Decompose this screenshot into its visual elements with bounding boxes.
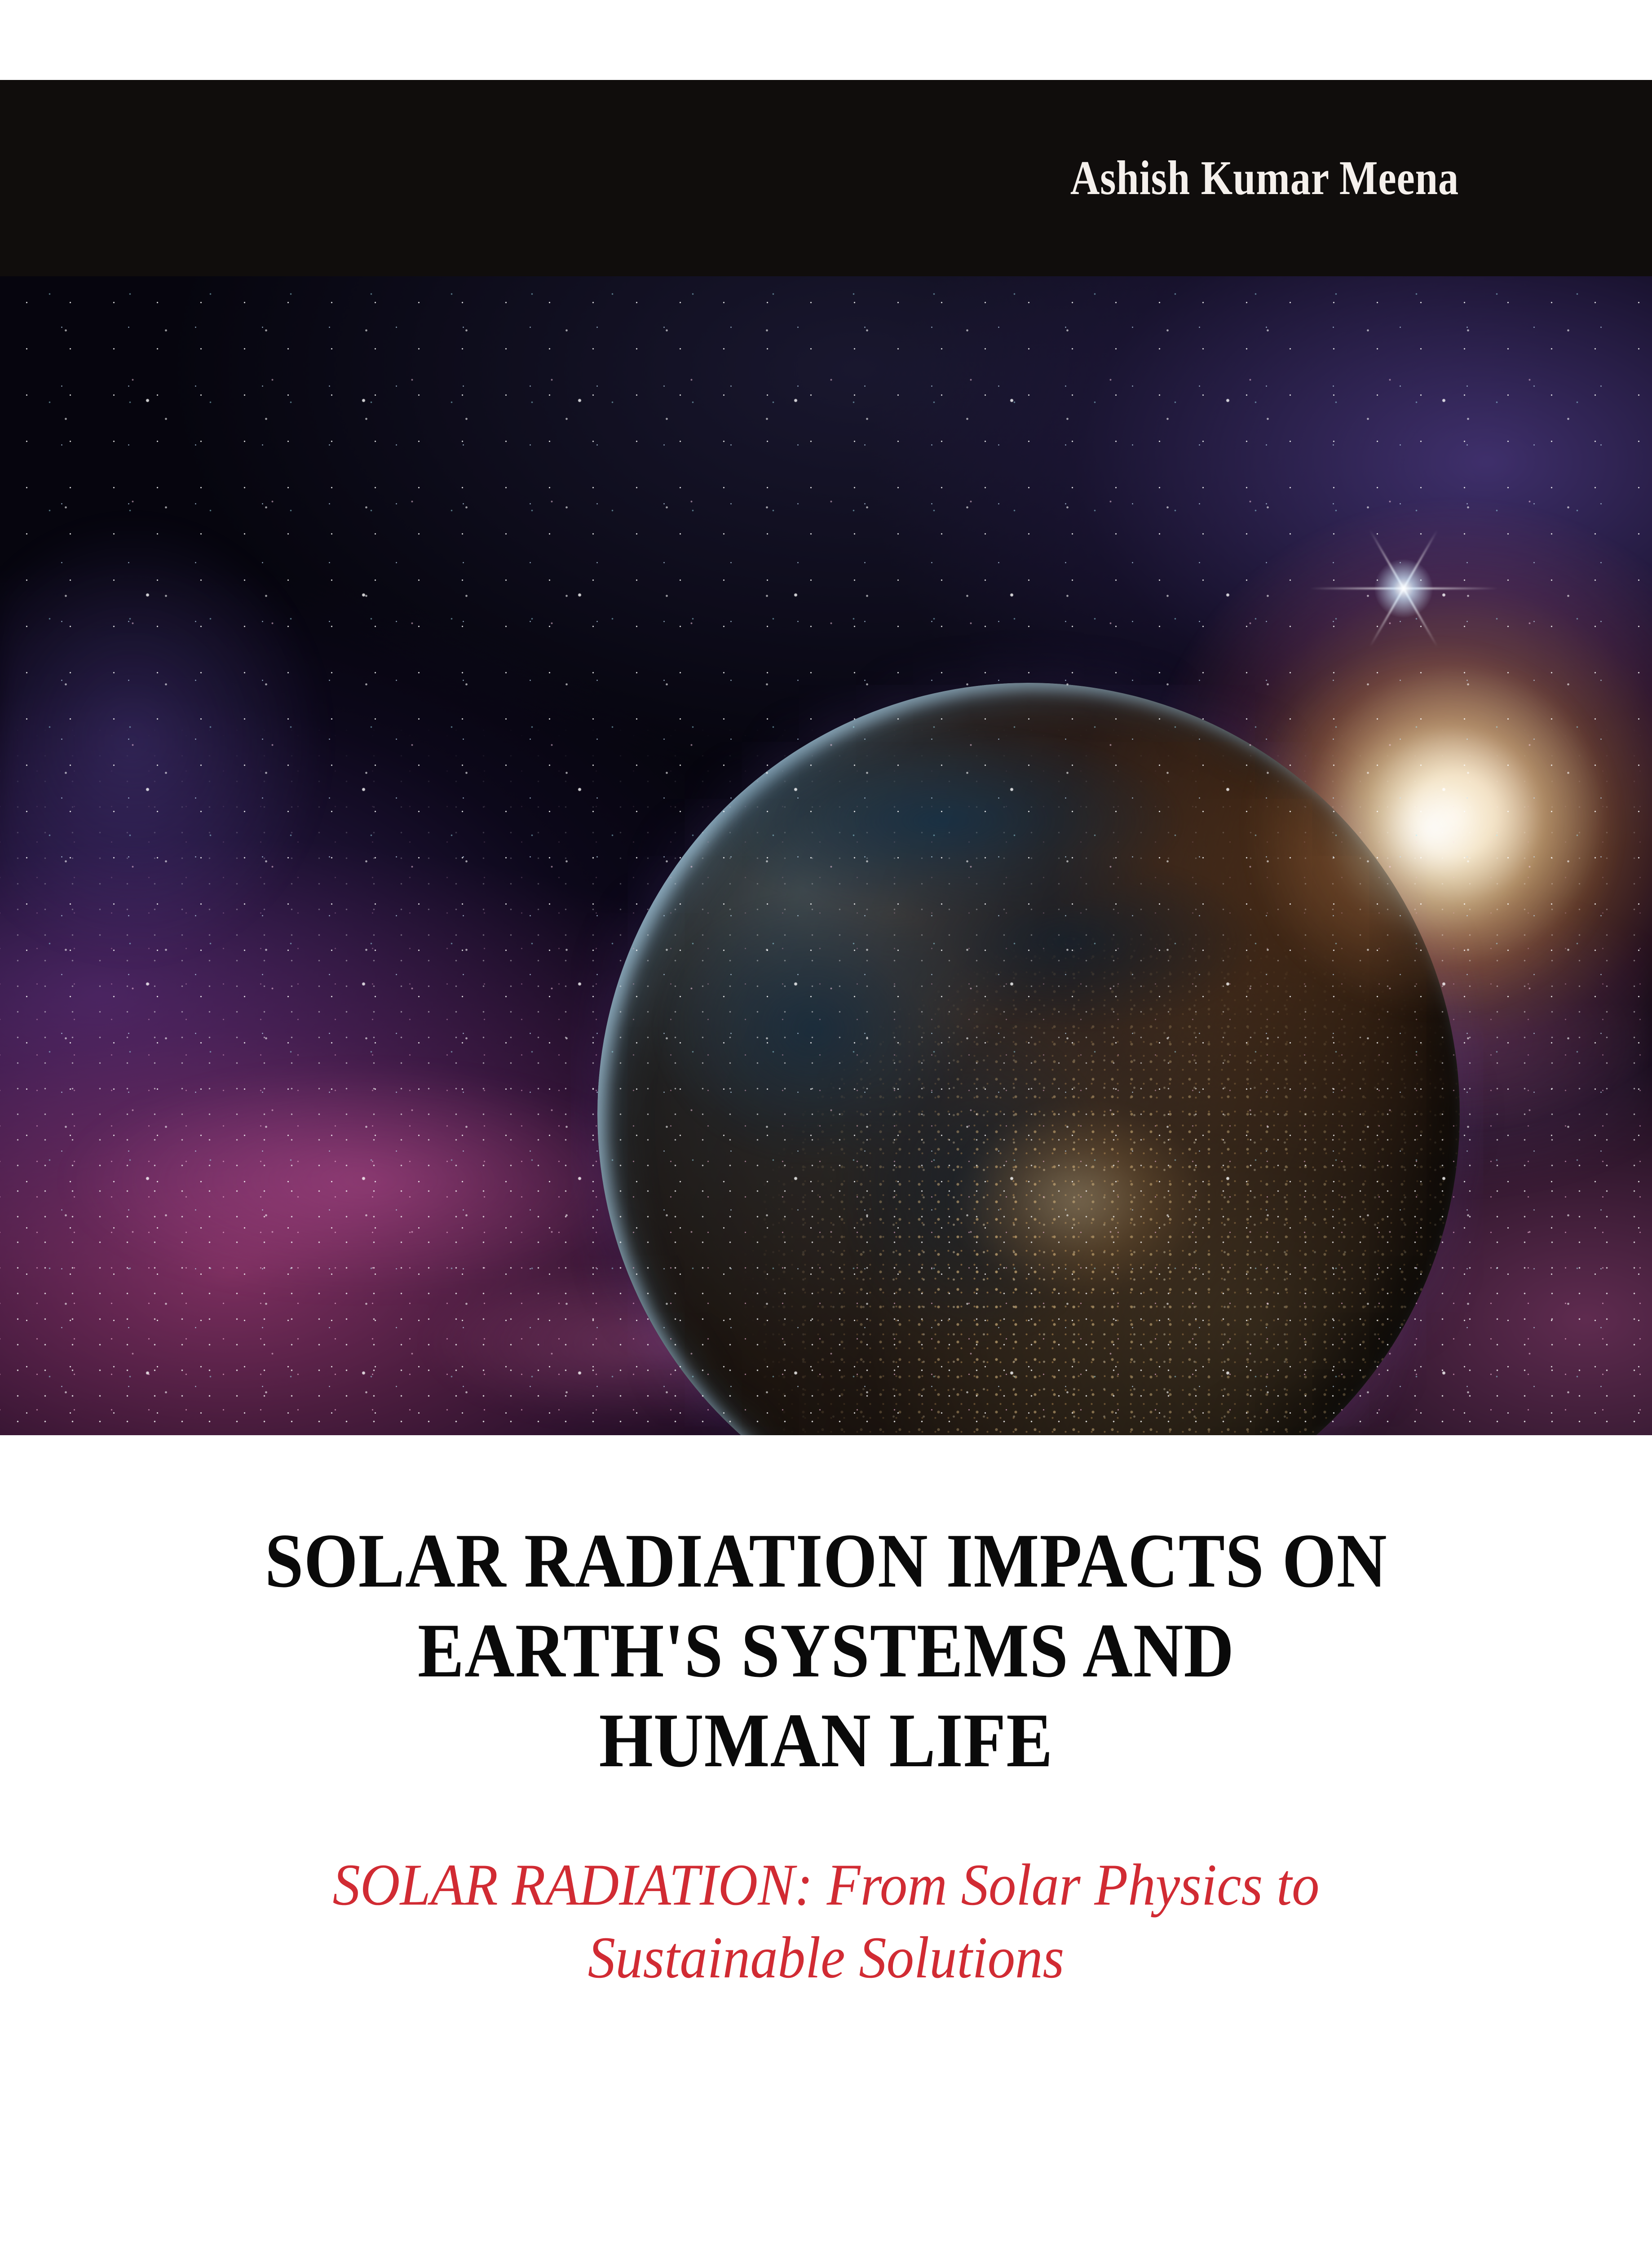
title-line-3: HUMAN LIFE	[83, 1696, 1569, 1786]
eliva-wordmark-icon	[1181, 2242, 1433, 2246]
title-line-1: SOLAR RADIATION IMPACTS ON	[83, 1516, 1569, 1606]
book-title: SOLAR RADIATION IMPACTS ON EARTH'S SYSTE…	[0, 1516, 1652, 1786]
subtitle-line-2: Sustainable Solutions	[58, 1921, 1595, 1994]
author-band: Ashish Kumar Meena	[0, 80, 1652, 276]
publisher-logo: PRESS	[1181, 2242, 1433, 2246]
cover-artwork	[0, 276, 1652, 1435]
book-subtitle: SOLAR RADIATION: From Solar Physics to S…	[0, 1848, 1652, 1994]
subtitle-line-1: SOLAR RADIATION: From Solar Physics to	[58, 1848, 1595, 1921]
title-area: SOLAR RADIATION IMPACTS ON EARTH'S SYSTE…	[0, 1435, 1652, 2246]
top-margin	[0, 0, 1652, 80]
star-burst-icon	[1401, 586, 1406, 591]
author-name: Ashish Kumar Meena	[1070, 154, 1459, 203]
star-field-dense	[0, 276, 1652, 1435]
title-line-2: EARTH'S SYSTEMS AND	[83, 1606, 1569, 1696]
